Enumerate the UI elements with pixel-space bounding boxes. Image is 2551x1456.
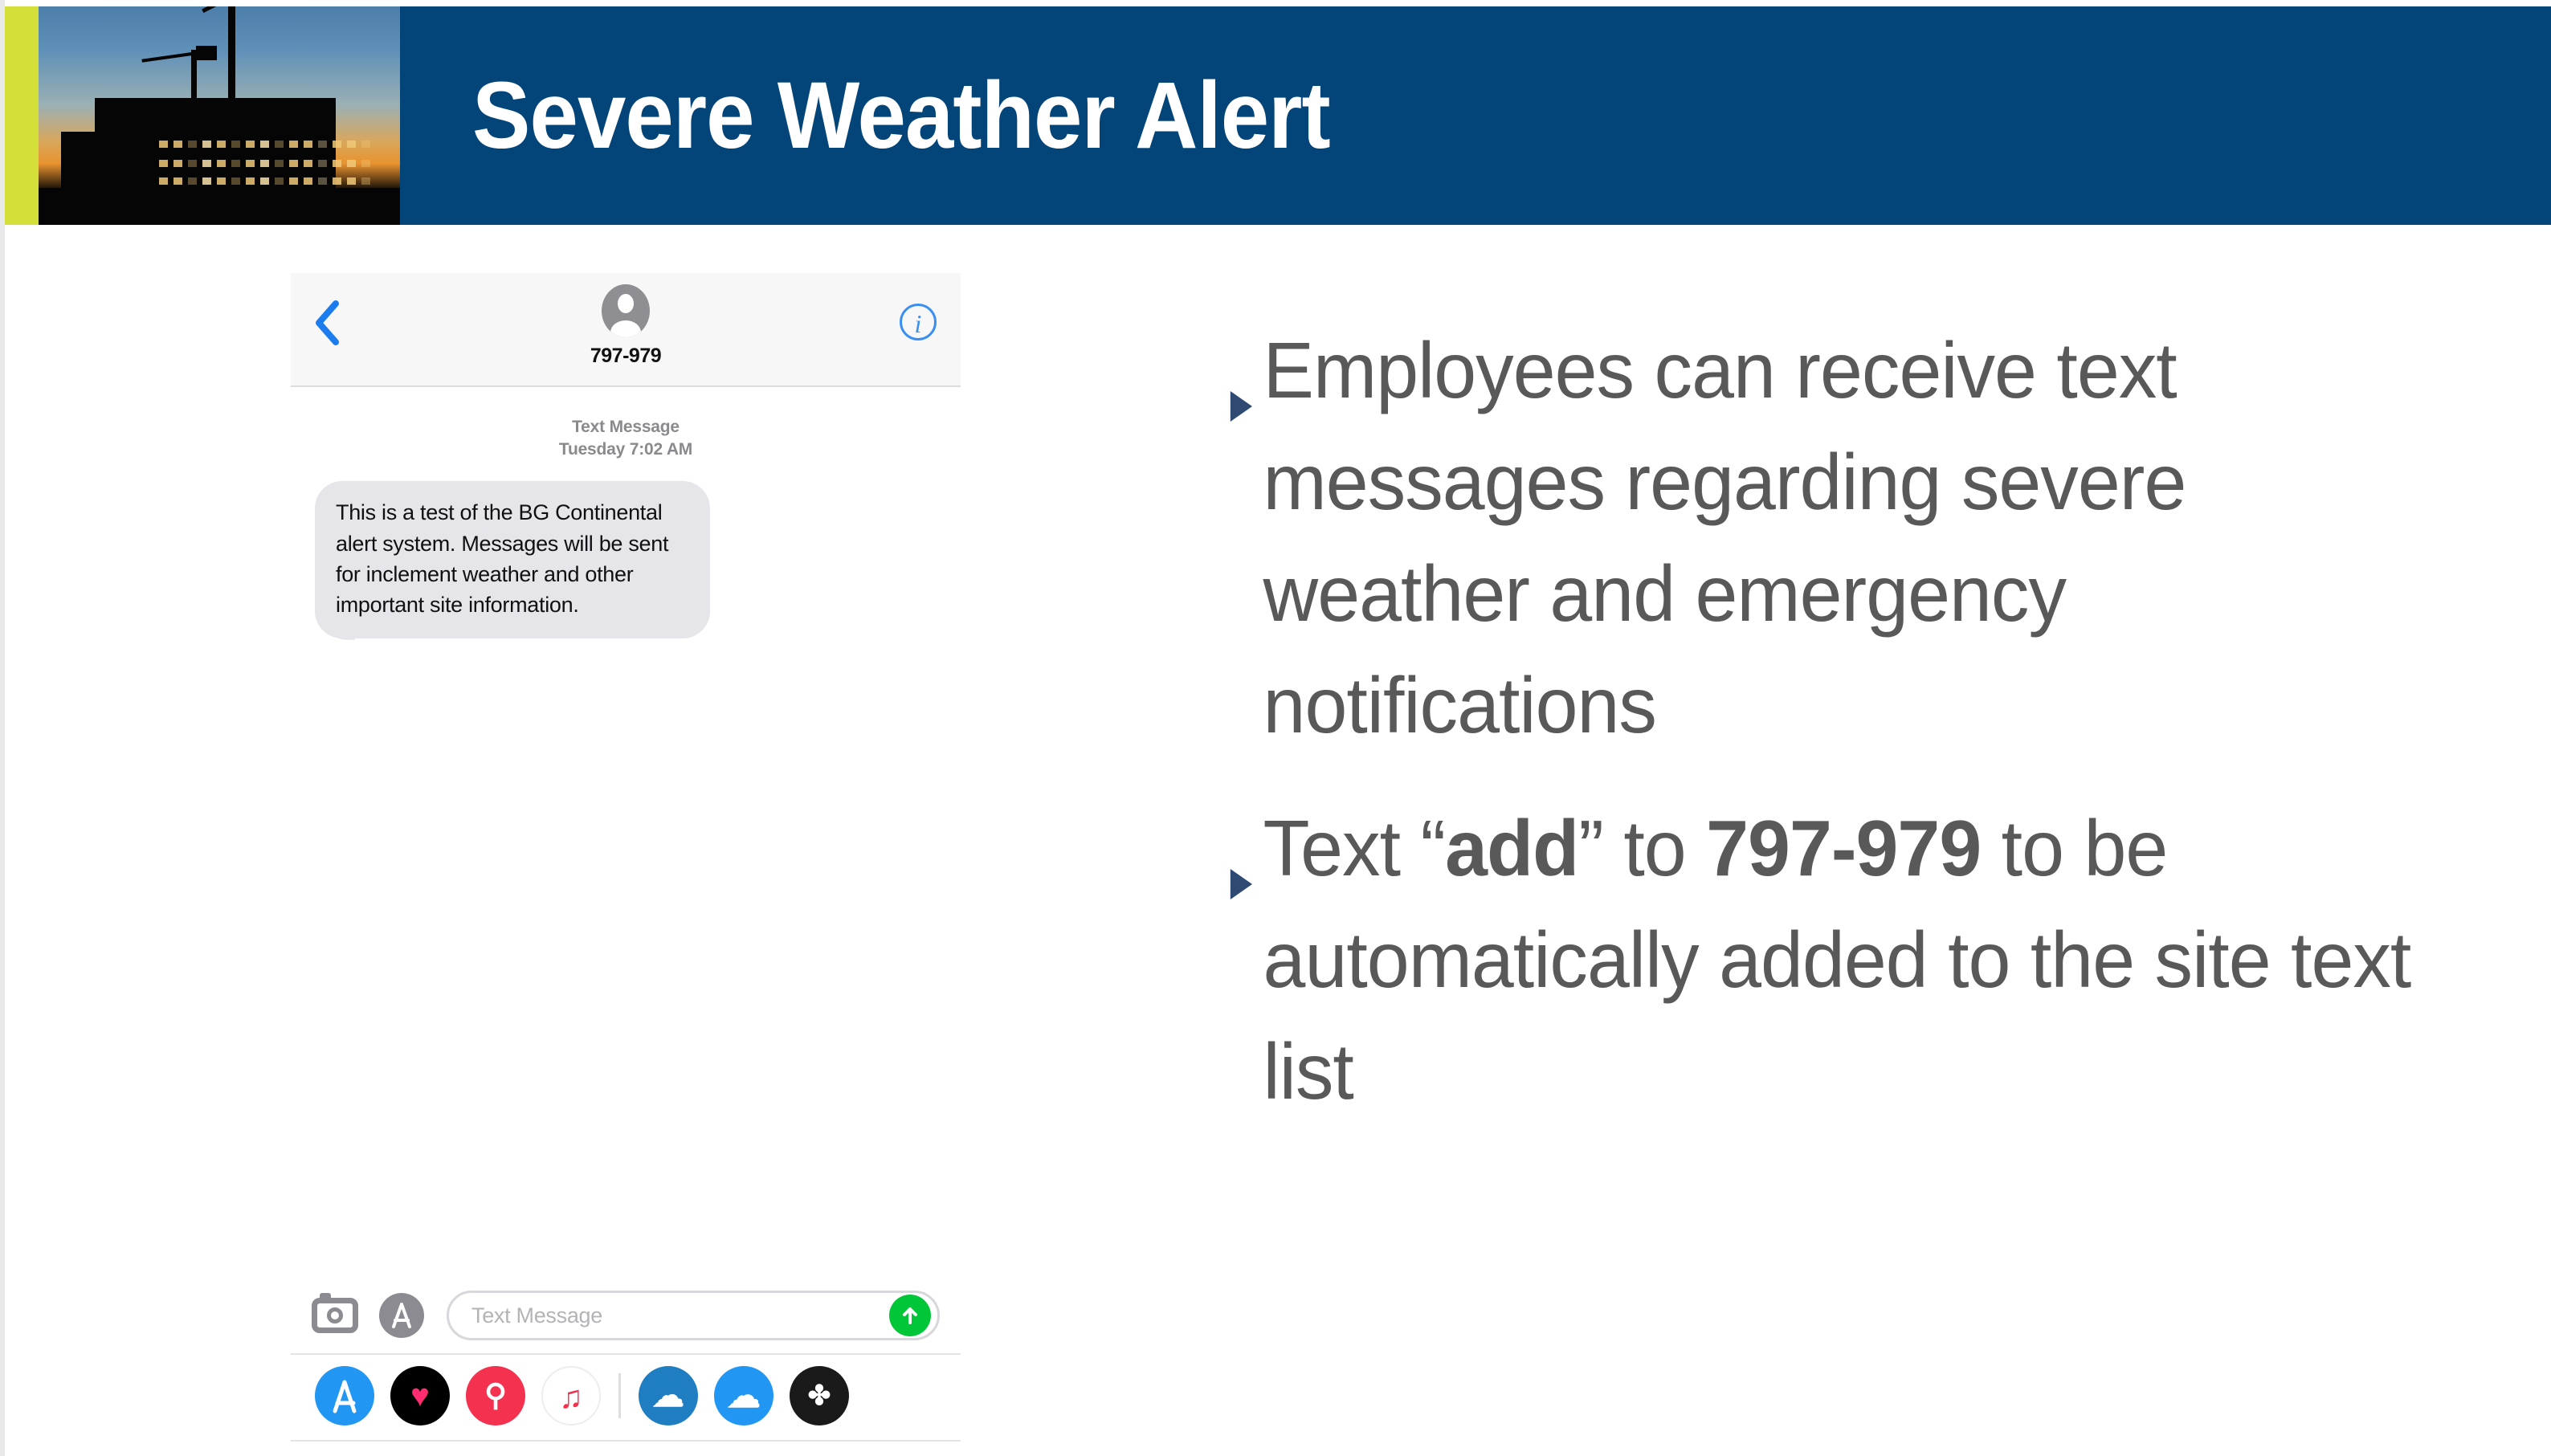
images-search-app-icon[interactable]: ⚲ <box>466 1366 525 1425</box>
page-title: Severe Weather Alert <box>472 68 1330 163</box>
crane-jib-icon <box>141 51 198 63</box>
message-list: This is a test of the BG Continental ale… <box>291 481 961 638</box>
photo-window-row <box>159 177 381 185</box>
photo-window-row <box>159 141 381 148</box>
digital-touch-app-icon[interactable]: ♥ <box>390 1366 450 1425</box>
list-item: Employees can receive text messages rega… <box>1226 315 2472 762</box>
app-drawer-divider <box>618 1373 621 1418</box>
onedrive-cloud-app-icon[interactable]: ☁ <box>639 1366 698 1425</box>
game-controller-app-icon[interactable]: ✤ <box>790 1366 849 1425</box>
phone-screenshot-image: 797-979 i Text Message Tuesday 7:02 AM T… <box>291 273 961 1442</box>
camera-icon[interactable] <box>312 1291 361 1340</box>
slide-header: Severe Weather Alert <box>5 6 2551 225</box>
accent-bar <box>5 6 39 225</box>
web-globe-app-icon[interactable]: ☁​ <box>714 1366 773 1425</box>
app-store-icon[interactable] <box>379 1291 429 1340</box>
imessage-app-drawer: ♥ ⚲ ♫ ☁ ☁​ ✤ <box>291 1353 961 1442</box>
compose-row: Text Message <box>291 1279 961 1353</box>
info-icon[interactable]: i <box>900 304 937 341</box>
contact-avatar-icon <box>602 284 650 337</box>
triangle-bullet-icon <box>1226 822 1259 933</box>
send-button[interactable] <box>889 1295 931 1336</box>
list-item-label: Text “add” to 797-979 to be automaticall… <box>1263 793 2472 1128</box>
list-item: Text “add” to 797-979 to be automaticall… <box>1226 793 2472 1128</box>
contact-header[interactable]: 797-979 <box>291 284 961 368</box>
photo-building <box>95 98 336 194</box>
crane-counterjib-icon <box>196 46 217 60</box>
music-app-icon[interactable]: ♫ <box>541 1366 601 1425</box>
list-item-segment: Text “ <box>1263 804 1446 892</box>
messages-navbar: 797-979 i <box>291 273 961 387</box>
bullet-list: Employees can receive text messages rega… <box>1226 315 2511 1128</box>
triangle-bullet-icon <box>1226 344 1259 455</box>
header-photo <box>39 6 400 225</box>
message-text: This is a test of the BG Continental ale… <box>336 500 668 617</box>
timestamp-label: Text Message <box>291 416 961 438</box>
messages-bottom-bar: Text Message ♥ ⚲ ♫ <box>291 1279 961 1442</box>
message-bubble: This is a test of the BG Continental ale… <box>315 481 710 638</box>
text-message-placeholder: Text Message <box>471 1303 889 1328</box>
list-item-segment-bold: add <box>1445 804 1578 892</box>
title-banner: Severe Weather Alert <box>400 6 2551 225</box>
contact-name: 797-979 <box>291 345 961 368</box>
timestamp-value: Tuesday 7:02 AM <box>291 438 961 461</box>
list-item-label: Employees can receive text messages rega… <box>1263 315 2472 762</box>
message-bubble-tail <box>329 619 355 640</box>
slide-canvas: Severe Weather Alert 797-979 i Text Mess… <box>0 0 2551 1456</box>
text-message-input[interactable]: Text Message <box>447 1291 940 1340</box>
app-store-app-icon[interactable] <box>315 1366 374 1425</box>
list-item-segment: ” to <box>1578 804 1706 892</box>
crane-jib-icon <box>202 6 245 13</box>
photo-window-row <box>159 160 381 167</box>
message-timestamp: Text Message Tuesday 7:02 AM <box>291 416 961 460</box>
list-item-segment-bold: 797-979 <box>1706 804 1981 892</box>
